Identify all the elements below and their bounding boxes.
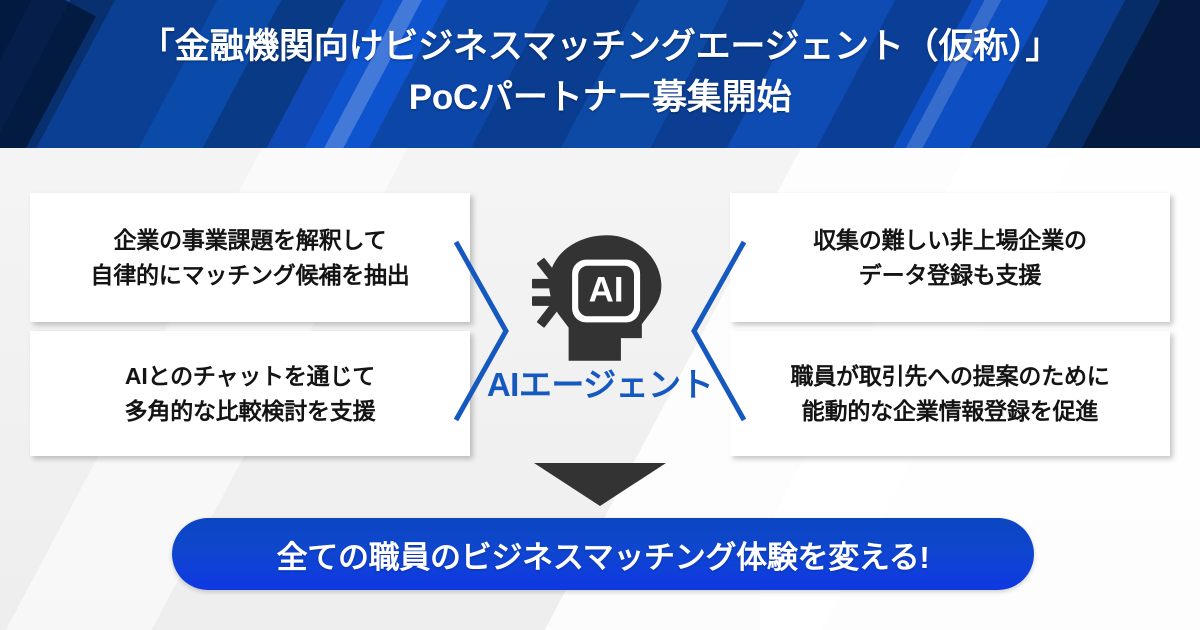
feature-box-unlisted-company-data: 収集の難しい非上場企業の データ登録も支援 — [730, 193, 1170, 322]
arrow-down-icon — [534, 463, 666, 506]
feature-box-proactive-registration: 職員が取引先への提案のために 能動的な企業情報登録を促進 — [730, 331, 1170, 456]
page-title: 「金融機関向けビジネスマッチングエージェント（仮称）」 PoCパートナー募集開始 — [0, 22, 1200, 124]
cta-banner[interactable]: 全ての職員のビジネスマッチング体験を変える! — [172, 518, 1034, 590]
poster-canvas: 「金融機関向けビジネスマッチングエージェント（仮称）」 PoCパートナー募集開始… — [0, 0, 1200, 630]
ai-agent-block: AI AIエージェント — [470, 230, 730, 440]
feature-box-ai-chat-comparison: AIとのチャットを通じて 多角的な比較検討を支援 — [30, 331, 470, 456]
feature-box-autonomous-matching: 企業の事業課題を解釈して 自律的にマッチング候補を抽出 — [30, 193, 470, 322]
ai-agent-label: AIエージェント — [487, 368, 713, 401]
header-banner: 「金融機関向けビジネスマッチングエージェント（仮称）」 PoCパートナー募集開始 — [0, 0, 1200, 148]
ai-chip-label: AI — [589, 270, 624, 309]
ai-head-icon: AI — [530, 230, 670, 366]
